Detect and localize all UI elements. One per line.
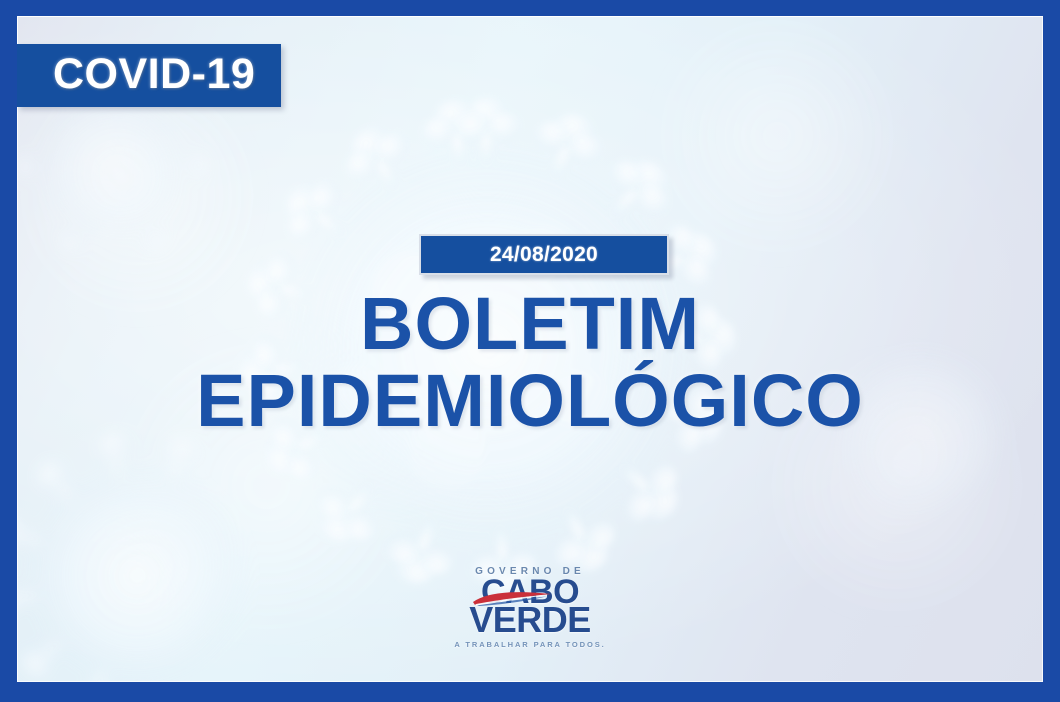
governo-cabo-verde-logo: GOVERNO DE CABO VERDE A TRABALHAR PARA T… [17, 566, 1043, 649]
poster-title-line-1: BOLETIM [17, 288, 1043, 359]
covid-19-badge-label: COVID-19 [53, 53, 255, 96]
date-badge: 24/08/2020 [419, 234, 669, 275]
logo-verde-text: VERDE [469, 605, 591, 636]
covid-19-badge: COVID-19 [17, 44, 281, 107]
logo-wordmark: CABO VERDE [469, 578, 591, 636]
poster-title: BOLETIM EPIDEMIOLÓGICO [17, 288, 1043, 436]
poster-title-line-2: EPIDEMIOLÓGICO [17, 365, 1043, 436]
covid-bulletin-poster: COVID-19 24/08/2020 BOLETIM EPIDEMIOLÓGI… [0, 0, 1060, 702]
date-badge-label: 24/08/2020 [490, 243, 598, 267]
logo-tagline-text: A TRABALHAR PARA TODOS. [17, 640, 1043, 649]
poster-inner-panel: COVID-19 24/08/2020 BOLETIM EPIDEMIOLÓGI… [17, 16, 1043, 682]
